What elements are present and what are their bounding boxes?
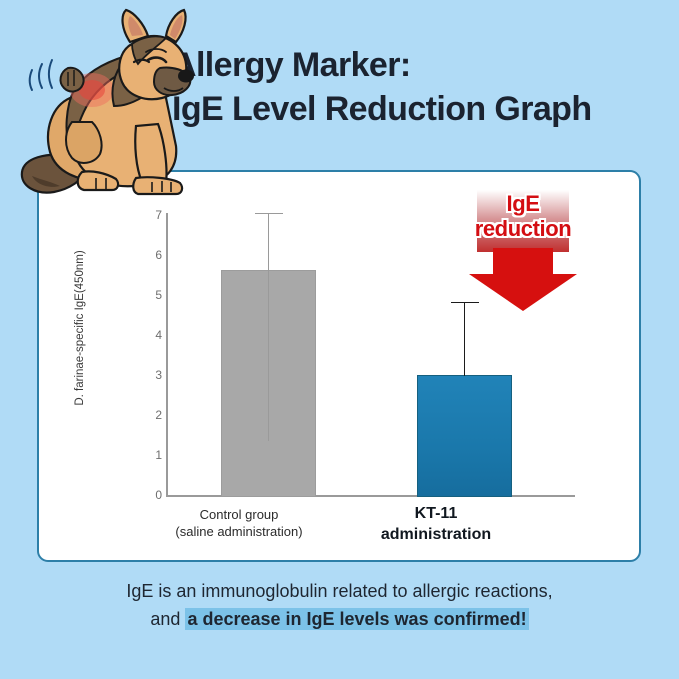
y-tick: 3 [138,368,162,382]
annotation-text: IgE reduction [441,192,605,241]
annotation-line-2: reduction [441,217,605,242]
y-axis-label: D. farinae-specific IgE(450nm) [74,233,86,423]
x-label-kt11-line1: KT-11 [356,503,516,524]
caption-line-1: IgE is an immunoglobulin related to alle… [0,578,679,606]
down-arrow-icon [467,248,579,312]
y-tick: 5 [138,288,162,302]
caption-line-2: and a decrease in IgE levels was confirm… [0,606,679,634]
y-tick: 7 [138,208,162,222]
x-label-kt11: KT-11 administration [356,503,516,545]
page-title: Allergy Marker: IgE Level Reduction Grap… [172,44,672,131]
annotation-line-1: IgE [441,192,605,217]
error-bar-control-group [268,213,269,441]
caption-line-2-prefix: and [150,609,185,629]
title-line-1: Allergy Marker: [172,44,672,88]
y-tick: 1 [138,448,162,462]
y-tick: 4 [138,328,162,342]
y-tick: 0 [138,488,162,502]
y-tick: 6 [138,248,162,262]
title-line-2: IgE Level Reduction Graph [172,88,672,132]
x-label-control-line2: (saline administration) [159,523,319,540]
y-axis-tick-labels: 7 6 5 4 3 2 1 0 [134,172,162,564]
bar-kt11[interactable] [417,375,512,497]
y-tick: 2 [138,408,162,422]
caption-line-2-highlight: a decrease in IgE levels was confirmed! [185,608,528,630]
chart-card: D. farinae-specific IgE(450nm) 7 6 5 4 3… [37,170,641,562]
infographic-root: Allergy Marker: IgE Level Reduction Grap… [0,0,679,679]
ige-reduction-annotation: IgE reduction [463,190,583,316]
caption-block: IgE is an immunoglobulin related to alle… [0,578,679,634]
x-label-control-group: Control group (saline administration) [159,506,319,540]
error-bar-cap-control-group [255,213,283,214]
x-label-kt11-line2: administration [356,524,516,545]
x-label-control-line1: Control group [159,506,319,523]
bar-chart: D. farinae-specific IgE(450nm) 7 6 5 4 3… [39,172,643,564]
